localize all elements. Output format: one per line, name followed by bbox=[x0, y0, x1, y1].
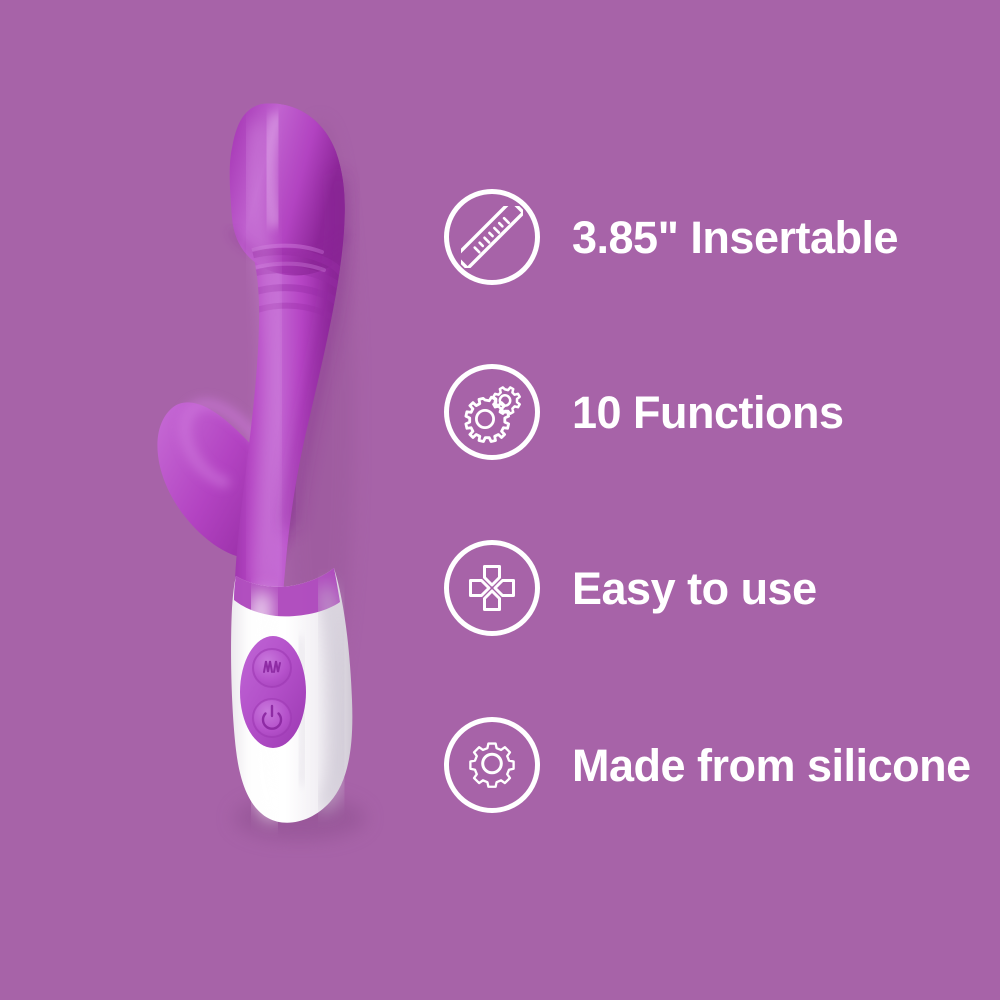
product-image bbox=[0, 0, 430, 1000]
control-panel[interactable] bbox=[240, 636, 306, 748]
power-button[interactable] bbox=[253, 699, 291, 737]
dpad-icon bbox=[460, 556, 524, 620]
feature-row-easy-to-use: Easy to use bbox=[440, 533, 817, 643]
gears-icon bbox=[460, 380, 524, 444]
feature-label-easy-to-use: Easy to use bbox=[572, 566, 817, 611]
feature-list: 3.85" Insertable 10 Function bbox=[440, 160, 1000, 840]
product-illustration bbox=[0, 0, 430, 1000]
infographic-canvas: 3.85" Insertable 10 Function bbox=[0, 0, 1000, 1000]
feature-row-functions: 10 Functions bbox=[440, 357, 844, 467]
mode-button[interactable] bbox=[253, 649, 291, 687]
tip-highlight bbox=[269, 120, 276, 220]
feature-label-silicone: Made from silicone bbox=[572, 743, 971, 788]
feature-row-silicone: Made from silicone bbox=[440, 710, 971, 820]
feature-row-insertable: 3.85" Insertable bbox=[440, 182, 898, 292]
gears-icon-circle bbox=[444, 364, 540, 460]
dpad-icon-circle bbox=[444, 540, 540, 636]
gear-icon-circle bbox=[444, 717, 540, 813]
ruler-icon-circle bbox=[444, 189, 540, 285]
ruler-icon bbox=[461, 206, 523, 268]
feature-label-insertable: 3.85" Insertable bbox=[572, 215, 898, 260]
feature-label-functions: 10 Functions bbox=[572, 390, 844, 435]
gear-icon bbox=[462, 735, 522, 795]
